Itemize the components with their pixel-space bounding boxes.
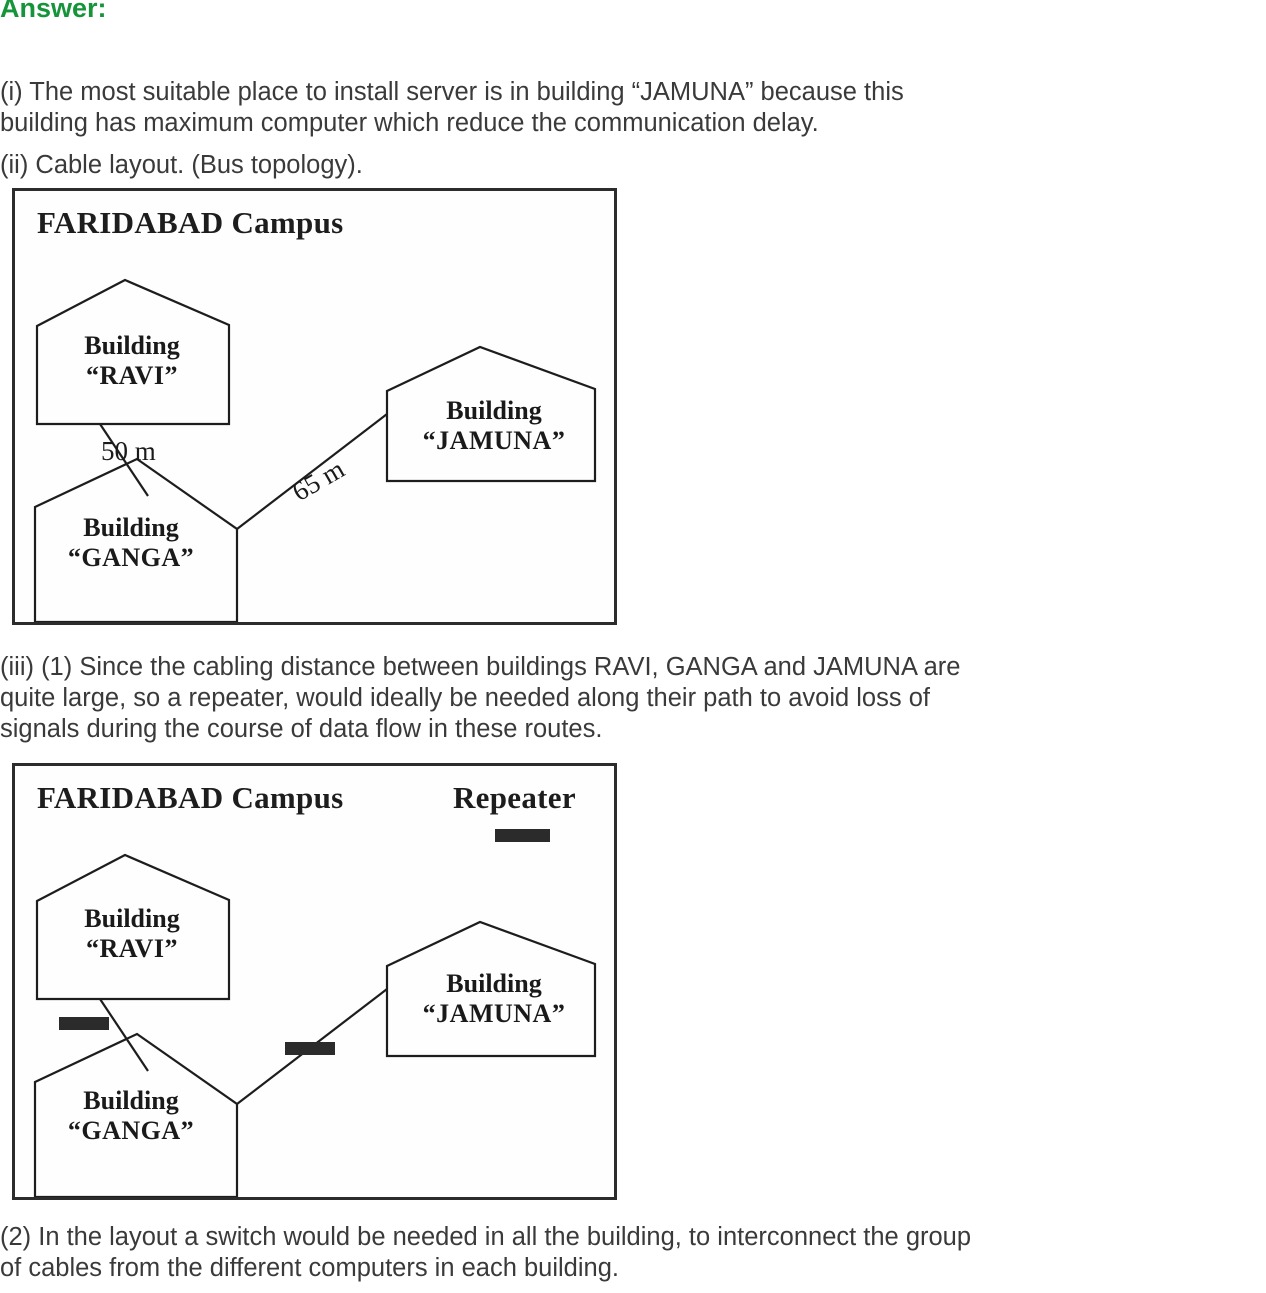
paragraph-item-ii-line-1: (ii) Cable layout. (Bus topology). <box>0 150 363 181</box>
building-jamuna-shape <box>387 922 595 1056</box>
building-ganga-shape <box>35 1034 237 1197</box>
paragraph-item-ii: (ii) Cable layout. (Bus topology). <box>0 150 363 181</box>
cable-layout-drawing <box>15 191 614 622</box>
cable-layout-diagram: FARIDABAD Campus Building “RAVI” Buildin… <box>12 188 617 625</box>
building-ravi-shape <box>37 855 229 999</box>
building-jamuna-shape <box>387 347 595 481</box>
paragraph-item-iii-line-1: (iii) (1) Since the cabling distance bet… <box>0 652 960 683</box>
repeater-icon-ganga-jamuna <box>285 1042 335 1055</box>
repeater-legend-icon <box>495 829 550 842</box>
cable-ravi-ganga <box>100 999 148 1071</box>
paragraph-item-2: (2) In the layout a switch would be need… <box>0 1222 971 1284</box>
diagram-1-title: FARIDABAD Campus <box>37 205 344 241</box>
repeater-legend-label: Repeater <box>453 780 576 816</box>
paragraph-item-iii-line-2: quite large, so a repeater, would ideall… <box>0 683 960 714</box>
repeater-layout-drawing <box>15 766 614 1197</box>
repeater-icon-ravi-ganga <box>59 1017 109 1030</box>
answer-heading: Answer: <box>0 0 107 24</box>
building-ravi-shape <box>37 280 229 424</box>
paragraph-item-2-line-1: (2) In the layout a switch would be need… <box>0 1222 971 1253</box>
paragraph-item-iii-line-3: signals during the course of data flow i… <box>0 714 960 745</box>
building-ganga-shape <box>35 459 237 622</box>
repeater-layout-diagram: FARIDABAD Campus Repeater Building “RAVI… <box>12 763 617 1200</box>
paragraph-item-i: (i) The most suitable place to install s… <box>0 77 904 139</box>
distance-label-ravi-ganga: 50 m <box>101 436 156 467</box>
paragraph-item-i-line-2: building has maximum computer which redu… <box>0 108 904 139</box>
paragraph-item-iii: (iii) (1) Since the cabling distance bet… <box>0 652 960 745</box>
diagram-2-title: FARIDABAD Campus <box>37 780 344 816</box>
paragraph-item-2-line-2: of cables from the different computers i… <box>0 1253 971 1284</box>
paragraph-item-i-line-1: (i) The most suitable place to install s… <box>0 77 904 108</box>
